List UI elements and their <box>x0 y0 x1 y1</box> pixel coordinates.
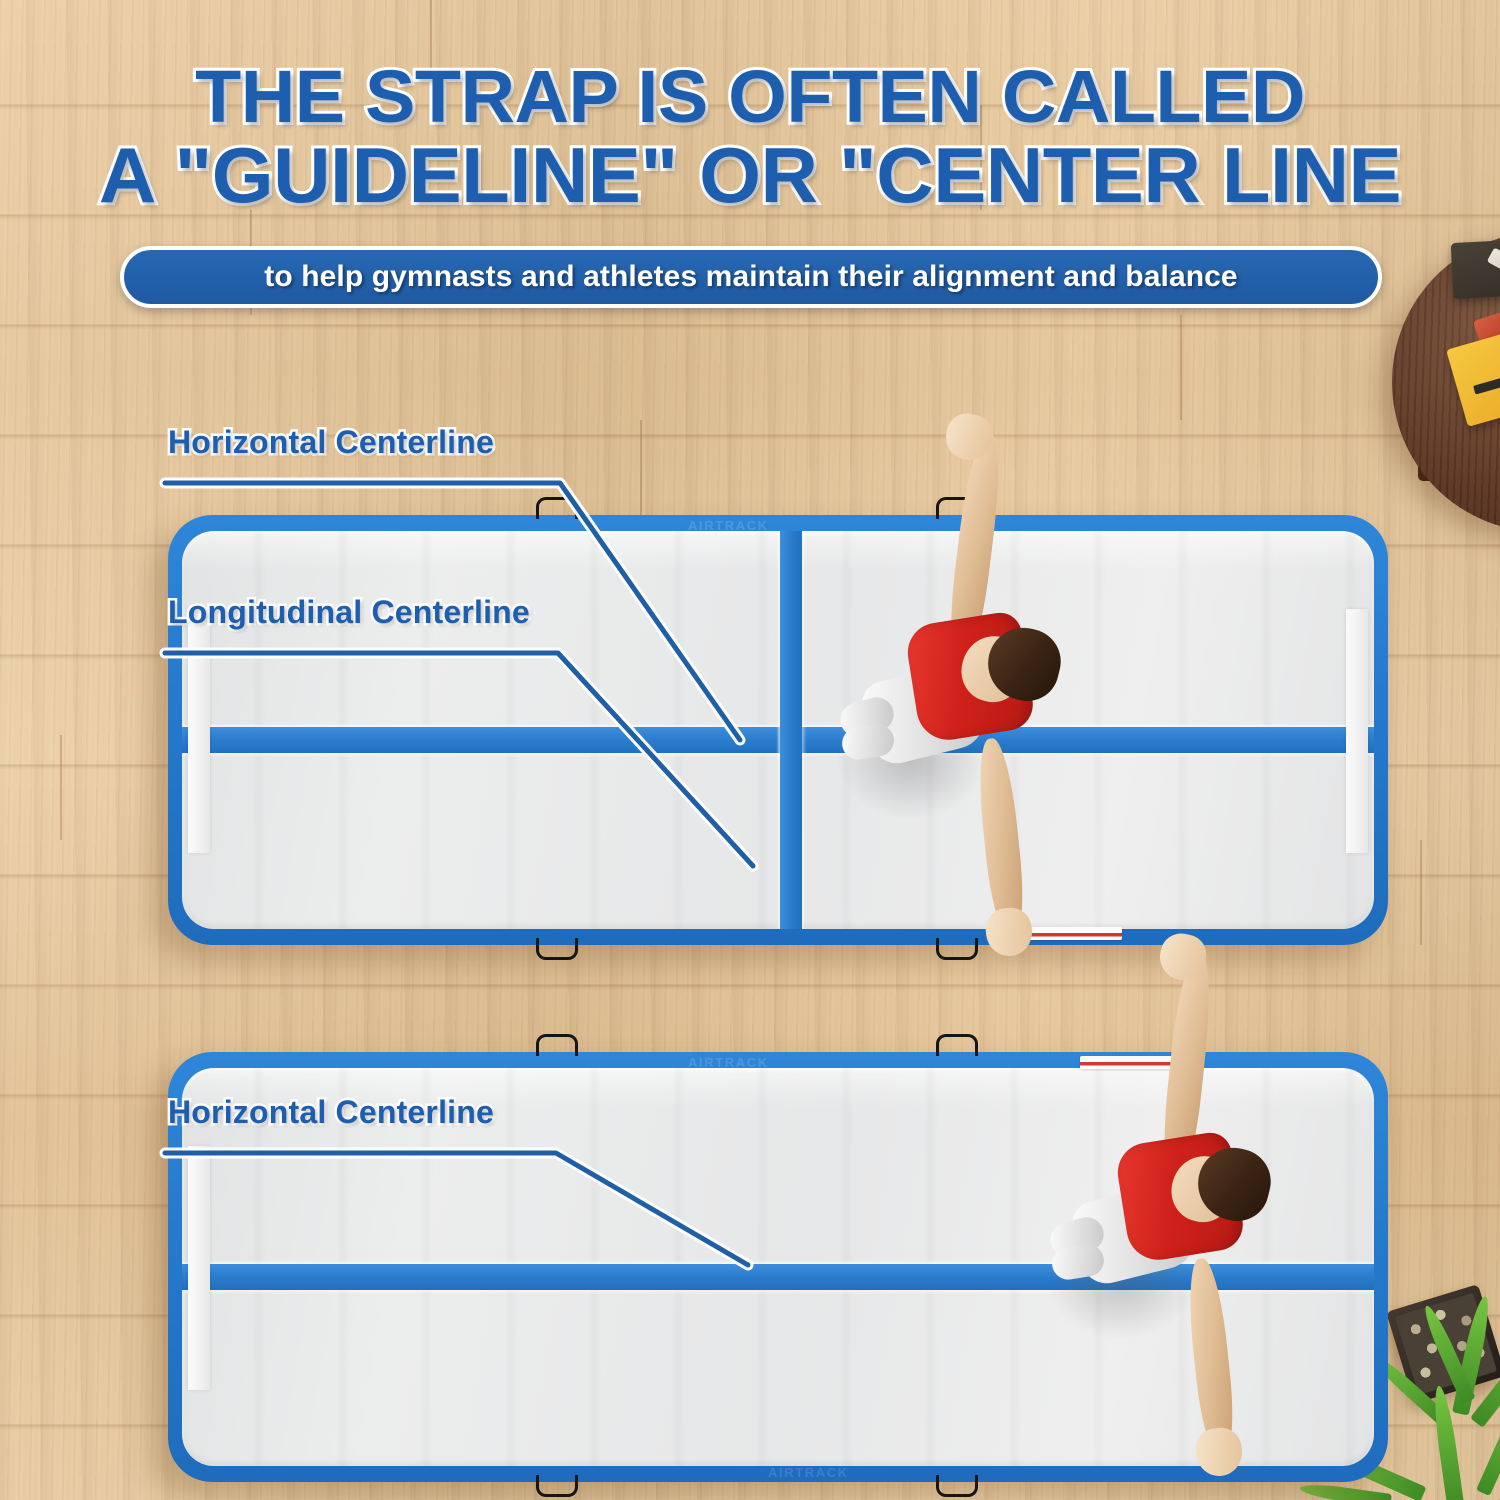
subtitle-banner: to help gymnasts and athletes maintain t… <box>120 246 1382 308</box>
callout-longitudinal-centerline-top: Longitudinal Centerline <box>168 594 530 631</box>
callout-horizontal-centerline-bottom: Horizontal Centerline <box>168 1094 494 1131</box>
poster-canvas: AIRTRACK AIRTRACK AIRTRACK <box>0 0 1500 1500</box>
subtitle-text: to help gymnasts and athletes maintain t… <box>264 260 1237 294</box>
callout-horizontal-centerline-top: Horizontal Centerline <box>168 424 494 461</box>
callout-leader-lines <box>0 0 1500 1500</box>
page-title: THE STRAP IS OFTEN CALLED A "GUIDELINE" … <box>0 58 1500 214</box>
headline-line-2: A "GUIDELINE" OR "CENTER LINE <box>0 136 1500 214</box>
headline-line-1: THE STRAP IS OFTEN CALLED <box>0 58 1500 136</box>
